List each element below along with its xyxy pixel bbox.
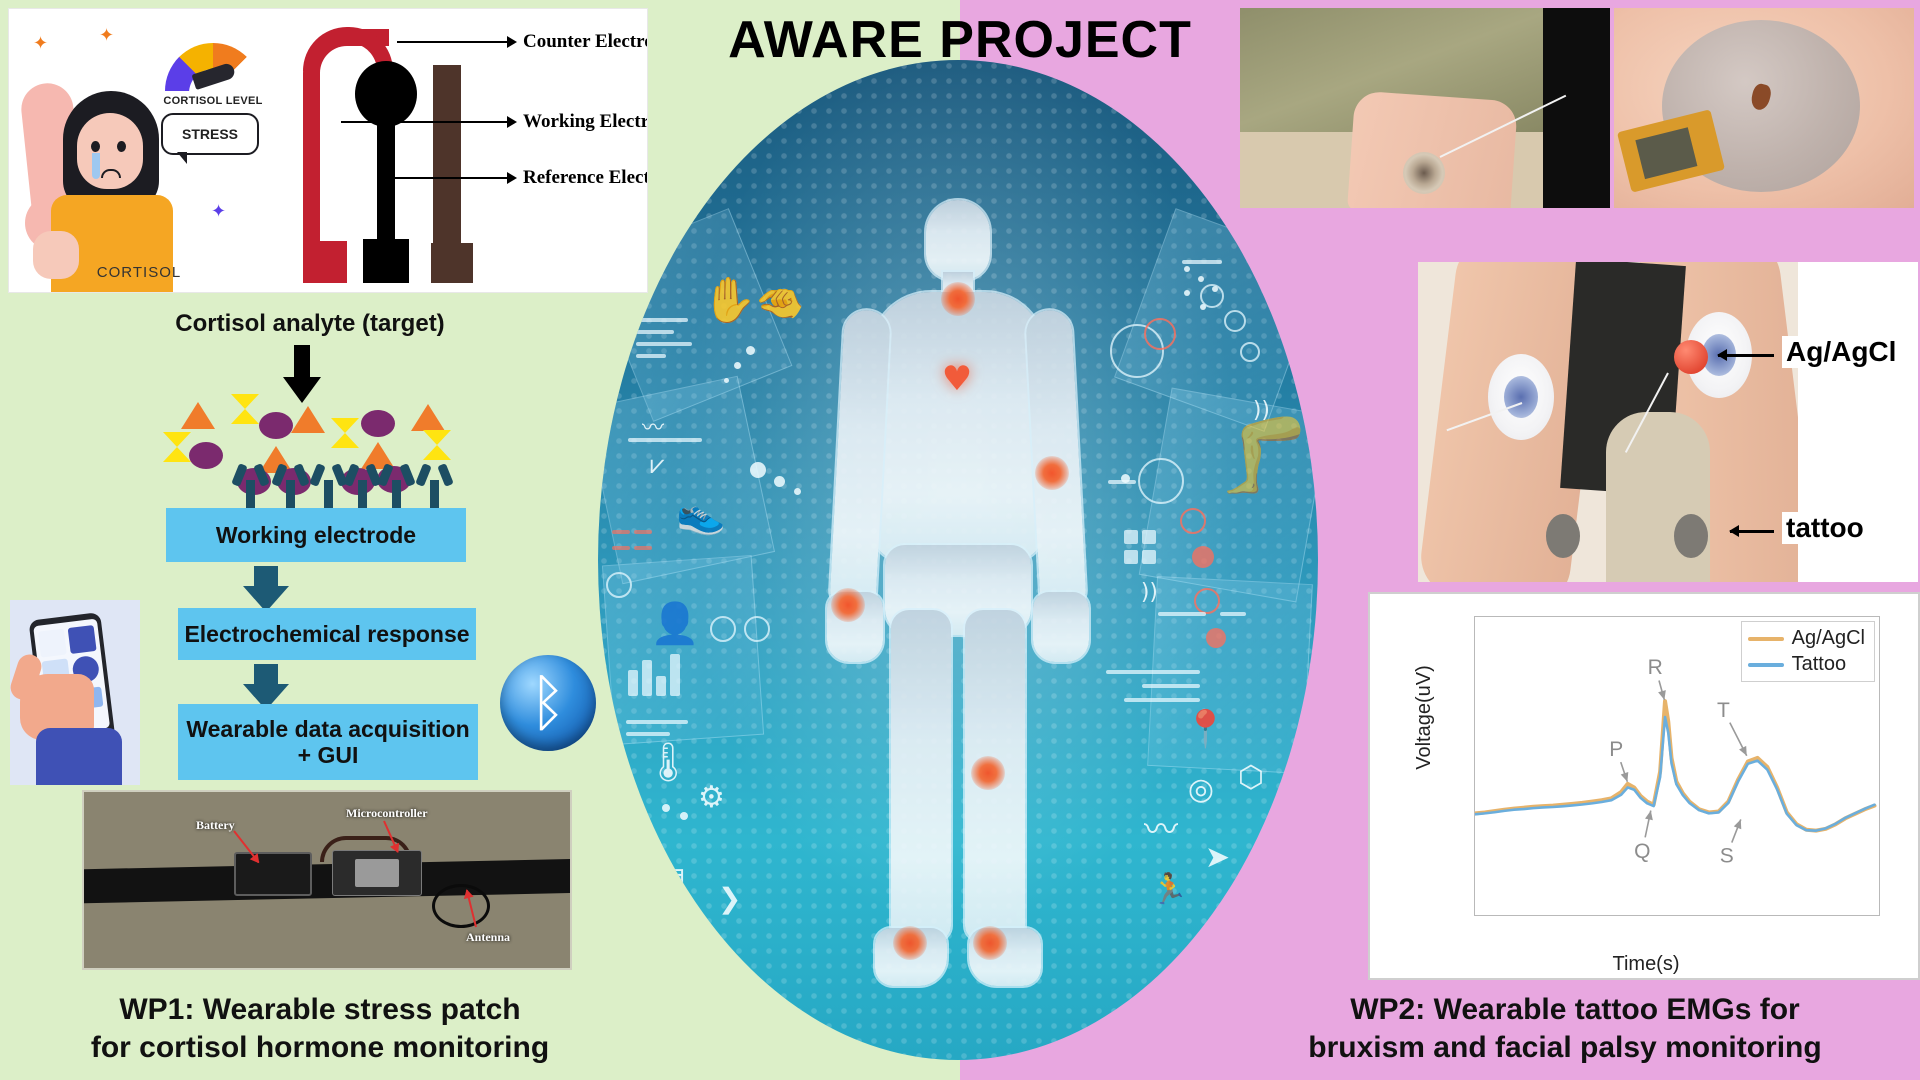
tattoo-electrode-left [1546,514,1580,558]
poster-title: AWARE PROJECT [0,10,1920,70]
ecg-comparison-chart: Voltage(uV) Time(s) PQRST Ag/AgCl Tattoo… [1368,592,1920,980]
cortisol-molecule-icon [259,412,293,439]
flow-step-wearable-data-acquisition: Wearable data acquisition + GUI [178,704,478,780]
hand-gesture-icon: ✋ [702,274,757,326]
target-icon: ◎ [1188,772,1214,807]
sparkle-icon: ✦ [211,201,226,222]
flow-step-working-electrode: Working electrode [166,508,466,562]
microcontroller-label: Microcontroller [346,806,428,821]
interferent-bowtie-icon [163,432,191,462]
ecg-waveform-icon: 〰 [1144,802,1178,851]
ag-agcl-pointer-arrow [1718,354,1774,357]
flow-arrow-down-icon [243,566,289,612]
wp2-caption-line1: WP2: Wearable tattoo EMGs for [1230,992,1920,1027]
document-icon: ▤ [654,860,686,900]
chart-plot-area: PQRST Ag/AgCl Tattoo 40003000200010000−1… [1474,616,1880,916]
skin-patch-electrode [1403,152,1445,194]
legend-swatch-agagcl [1748,637,1784,641]
gauge-label: CORTISOL LEVEL [161,95,265,107]
body-sensing-oval-graphic: ✋ 🤏 〰 ⩗ 👟 👤 🌡 ⚙ ◉ ▤ ❯ [598,60,1318,1060]
chart-legend: Ag/AgCl Tattoo [1741,621,1875,682]
cortisol-molecule-icon [189,442,223,469]
ecg-peak-label-t: T [1717,699,1730,722]
smartphone-app-illustration [10,600,140,785]
antigen-triangle-icon [411,404,445,431]
antenna-label: Antenna [466,930,510,945]
antigen-triangle-icon [181,402,215,429]
bluetooth-badge: ᛒ [500,655,596,751]
ag-agcl-annotation: Ag/AgCl [1782,336,1900,368]
legend-item-agagcl: Ag/AgCl [1748,627,1865,650]
tattoo-electrode-right [1674,514,1708,558]
cortisol-analyte-title: Cortisol analyte (target) [100,310,520,338]
legend-swatch-tattoo [1748,663,1784,667]
thermometer-icon: 🌡 [644,740,692,785]
hud-panel-left-mid [598,376,775,585]
ag-agcl-gel-pad-left [1488,354,1554,440]
hotspot-ankle-left [893,926,927,960]
interferent-bowtie-icon [231,394,259,424]
wp1-caption-line1: WP1: Wearable stress patch [20,992,620,1027]
interferent-bowtie-icon [423,430,451,460]
legend-label-agagcl: Ag/AgCl [1792,627,1865,650]
antibody-icon [345,464,379,510]
leg-prosthetic-icon: 🦵 [1218,412,1310,499]
pulse-icon: ⩗ [650,450,665,481]
signal-icon: ◉ [598,818,621,848]
legend-label-tattoo: Tattoo [1792,653,1846,676]
wifi-signal-icon: )) [1141,580,1158,605]
bluetooth-icon: ᛒ [500,655,596,751]
wp1-caption-line2: for cortisol hormone monitoring [20,1030,620,1065]
ecg-peak-label-p: P [1609,738,1623,761]
photo-forearms-electrodes: Ag/AgCl tattoo [1418,262,1918,582]
human-body-silhouette: ♥ [813,200,1103,1000]
analyte-molecule-field [165,390,465,510]
hexagon-icon: ⬡ [1238,760,1264,795]
arrow-icon: ➤ [1205,840,1230,875]
hotspot-hand [831,588,865,622]
antibody-icon [417,464,451,510]
chevron-icon: ❯ [718,882,741,915]
interferent-bowtie-icon [331,418,359,448]
body-scan-icon: 👤 [650,600,700,647]
tattoo-annotation: tattoo [1782,512,1868,544]
electrode-snap-connector [1674,340,1708,374]
battery-label: Battery [196,818,235,833]
antibody-icon [311,464,345,510]
chart-x-axis-label: Time(s) [1370,953,1920,976]
settings-gear-icon: ⚙ [698,780,725,815]
hotspot-knee [971,756,1005,790]
chart-y-axis-label: Voltage(uV) [1413,665,1436,770]
ecg-peak-label-r: R [1648,656,1663,679]
ecg-peak-label-s: S [1720,845,1734,868]
cortisol-molecule-icon [361,410,395,437]
hotspot-throat [941,282,975,316]
antibody-icon [273,464,307,510]
antibody-icon [233,464,267,510]
hotspot-ankle-right [973,926,1007,960]
ecg-peak-label-q: Q [1634,840,1650,863]
poster-canvas: AWARE PROJECT ✦ ✦ ✦ [0,0,1920,1080]
wearable-band-photo: Battery Microcontroller Antenna [82,790,572,970]
flow-step-electrochemical-response: Electrochemical response [178,608,476,660]
running-icon: 🏃 [1151,872,1188,907]
stressed-person-figure [25,55,175,255]
hotspot-heart: ♥ [939,362,975,396]
stress-speech-bubble: STRESS [161,113,259,155]
legend-item-tattoo: Tattoo [1748,653,1865,676]
tattoo-pointer-arrow [1730,530,1774,533]
antibody-icon [379,464,413,510]
antigen-triangle-icon [291,406,325,433]
hud-panel-right-lower [1147,576,1313,774]
map-pin-icon: 📍 [1183,708,1228,750]
shoe-icon: 👟 [676,490,726,537]
hotspot-elbow [1035,456,1069,490]
cortisol-caption: CORTISOL [15,264,263,281]
